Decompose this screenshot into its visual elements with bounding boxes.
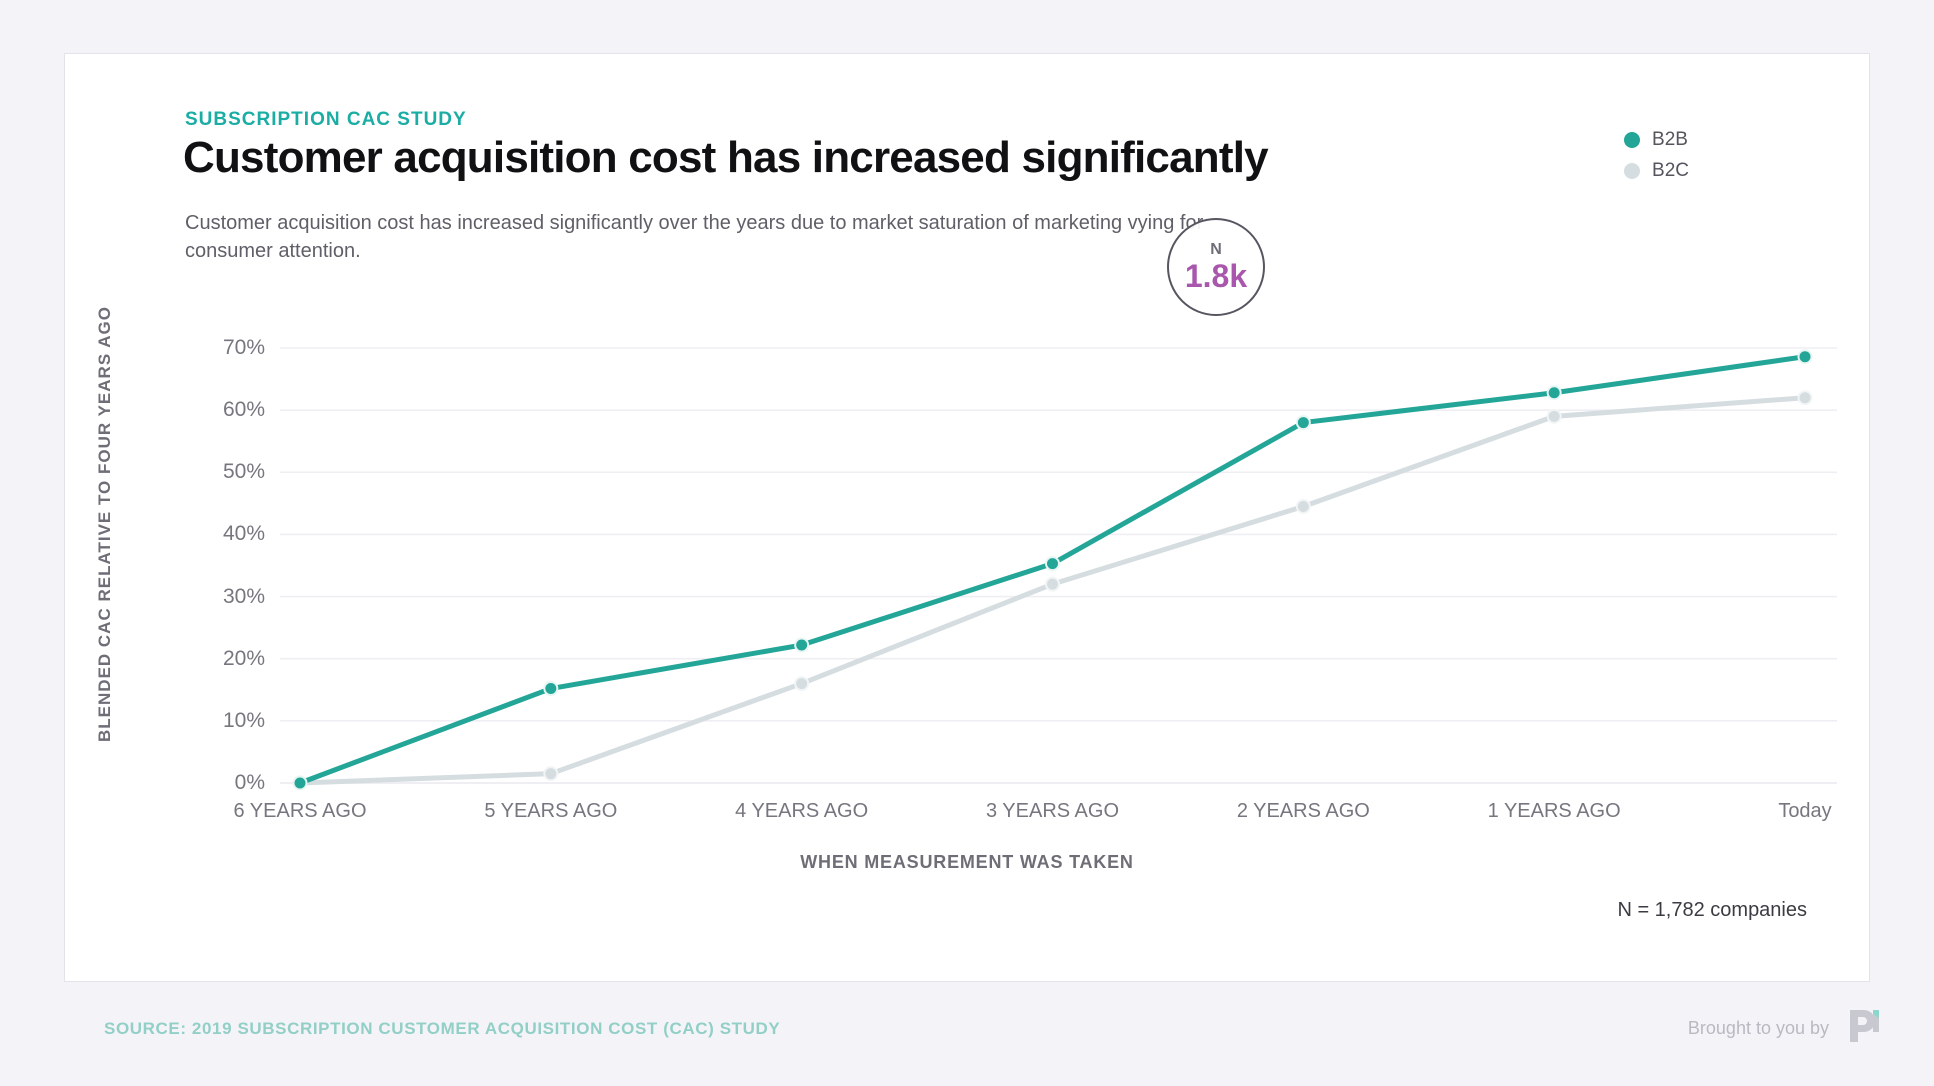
annotation-caption: N (1210, 242, 1222, 258)
chart-card: SUBSCRIPTION CAC STUDY Customer acquisit… (64, 53, 1870, 982)
data-point-b2b (1297, 416, 1310, 429)
data-point-b2b (795, 639, 808, 652)
data-point-b2c (544, 767, 557, 780)
sample-size-note: N = 1,782 companies (1617, 899, 1807, 922)
page-title: Customer acquisition cost has increased … (183, 133, 1268, 183)
line-chart-plot (65, 54, 1871, 983)
y-tick-label: 60% (185, 398, 265, 422)
data-point-b2b (1548, 386, 1561, 399)
y-axis-ticks: 0%10%20%30%40%50%60%70% (185, 54, 265, 983)
x-tick-label: 1 YEARS AGO (1444, 800, 1664, 823)
data-point-b2c (1548, 410, 1561, 423)
series-line-b2b (300, 357, 1805, 783)
data-point-b2b (294, 777, 307, 790)
data-point-b2b (544, 682, 557, 695)
x-tick-label: 2 YEARS AGO (1193, 800, 1413, 823)
chart-legend: B2B B2C (1624, 129, 1689, 182)
data-point-b2c (1046, 578, 1059, 591)
p-logo-icon (1844, 1006, 1884, 1046)
y-tick-label: 30% (185, 585, 265, 609)
data-point-b2b (1799, 350, 1812, 363)
legend-swatch-b2c (1624, 163, 1640, 179)
series-line-b2c (300, 398, 1805, 783)
y-tick-label: 70% (185, 336, 265, 360)
y-tick-label: 40% (185, 522, 265, 546)
legend-item-b2c[interactable]: B2C (1624, 160, 1689, 182)
data-point-b2c (795, 677, 808, 690)
legend-label-b2b: B2B (1652, 129, 1688, 151)
y-tick-label: 0% (185, 771, 265, 795)
annotation-value: 1.8k (1185, 260, 1247, 292)
x-axis-title: WHEN MEASUREMENT WAS TAKEN (65, 852, 1869, 873)
source-label: SOURCE: 2019 SUBSCRIPTION CUSTOMER ACQUI… (104, 1019, 780, 1039)
legend-label-b2c: B2C (1652, 160, 1689, 182)
y-tick-label: 50% (185, 460, 265, 484)
data-point-b2c (294, 777, 307, 790)
data-point-b2c (1297, 500, 1310, 513)
y-tick-label: 10% (185, 709, 265, 733)
data-point-b2b (1046, 557, 1059, 570)
data-point-b2c (1799, 391, 1812, 404)
legend-swatch-b2b (1624, 132, 1640, 148)
x-tick-label: 3 YEARS AGO (943, 800, 1163, 823)
x-tick-label: Today (1695, 800, 1915, 823)
brought-to-you-by-label: Brought to you by (1688, 1018, 1829, 1039)
legend-item-b2b[interactable]: B2B (1624, 129, 1689, 151)
x-tick-label: 6 YEARS AGO (190, 800, 410, 823)
y-axis-title: BLENDED CAC RELATIVE TO FOUR YEARS AGO (95, 304, 115, 744)
y-tick-label: 20% (185, 647, 265, 671)
x-tick-label: 5 YEARS AGO (441, 800, 661, 823)
annotation-bubble: N 1.8k (1167, 218, 1265, 316)
x-tick-label: 4 YEARS AGO (692, 800, 912, 823)
subtitle-text: Customer acquisition cost has increased … (185, 209, 1225, 265)
